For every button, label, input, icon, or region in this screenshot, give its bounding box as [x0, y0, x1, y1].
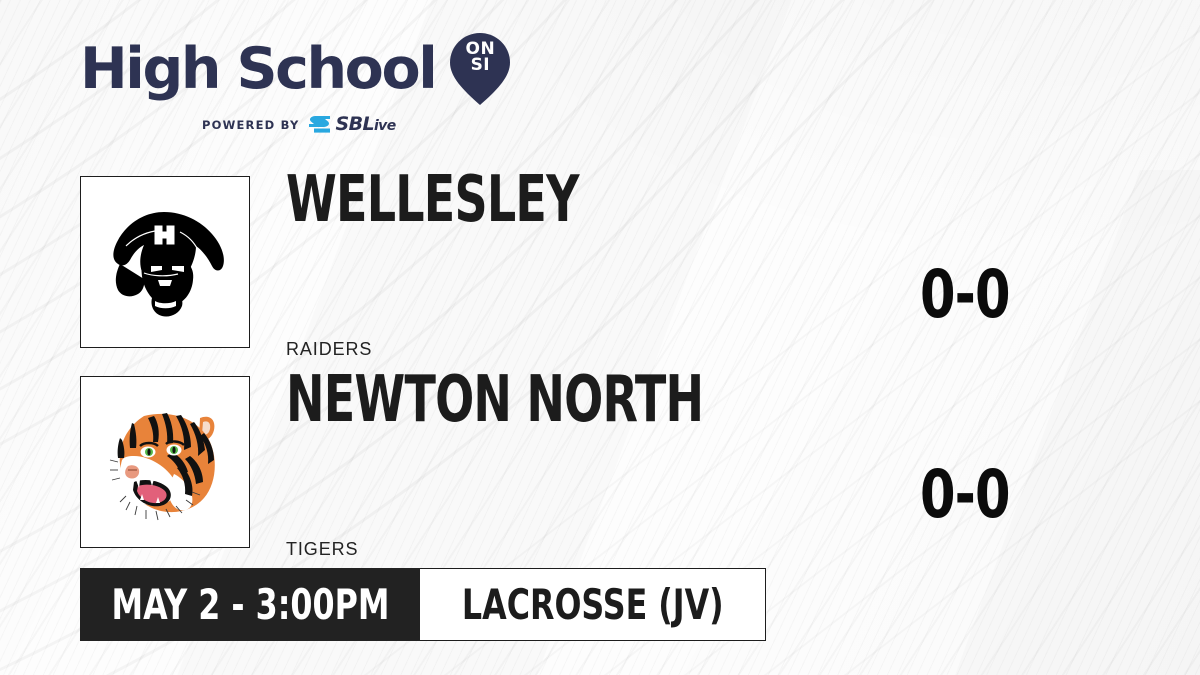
- sblive-s-mark-icon: [308, 115, 332, 134]
- sblive-wordmark-upper: SBL: [335, 113, 373, 135]
- game-sport-block: LACROSSE (JV): [420, 568, 766, 641]
- team-logo-box-home: [80, 376, 250, 548]
- sblive-wordmark: SBLive: [335, 115, 395, 134]
- onsi-pin-icon: ON SI: [449, 32, 511, 106]
- game-datetime-block: MAY 2 - 3:00PM: [80, 568, 420, 641]
- team-record-away: 0-0: [920, 262, 1010, 328]
- team-logo-box-away: [80, 176, 250, 348]
- team-mascot-home: TIGERS: [286, 539, 358, 560]
- team-mascot-away: RAIDERS: [286, 339, 372, 360]
- tiger-head-logo-icon: [104, 400, 226, 524]
- team-name-away: WELLESLEY: [286, 168, 579, 232]
- team-name-home: NEWTON NORTH: [286, 368, 703, 432]
- sblive-logo: SBLive: [308, 115, 395, 134]
- powered-by-label: POWERED BY: [202, 118, 299, 132]
- game-datetime-label: MAY 2 - 3:00PM: [111, 580, 389, 629]
- onsi-pin-text: ON SI: [449, 41, 511, 74]
- brand-lockup: High School ON SI POWERED BY SBLive: [80, 32, 511, 134]
- brand-row: High School ON SI: [80, 32, 511, 106]
- game-sport-label: LACROSSE (JV): [462, 580, 724, 629]
- onsi-pin-line-si: SI: [449, 57, 511, 73]
- powered-by-lockup: POWERED BY SBLive: [202, 115, 511, 134]
- raider-pirate-head-logo-icon: [100, 202, 230, 322]
- matchup-card: High School ON SI POWERED BY SBLive: [0, 0, 1200, 675]
- brand-wordmark: High School: [80, 41, 435, 98]
- game-info-bar: MAY 2 - 3:00PM LACROSSE (JV): [80, 568, 766, 641]
- sblive-wordmark-lower: ive: [374, 118, 396, 134]
- team-record-home: 0-0: [920, 462, 1010, 528]
